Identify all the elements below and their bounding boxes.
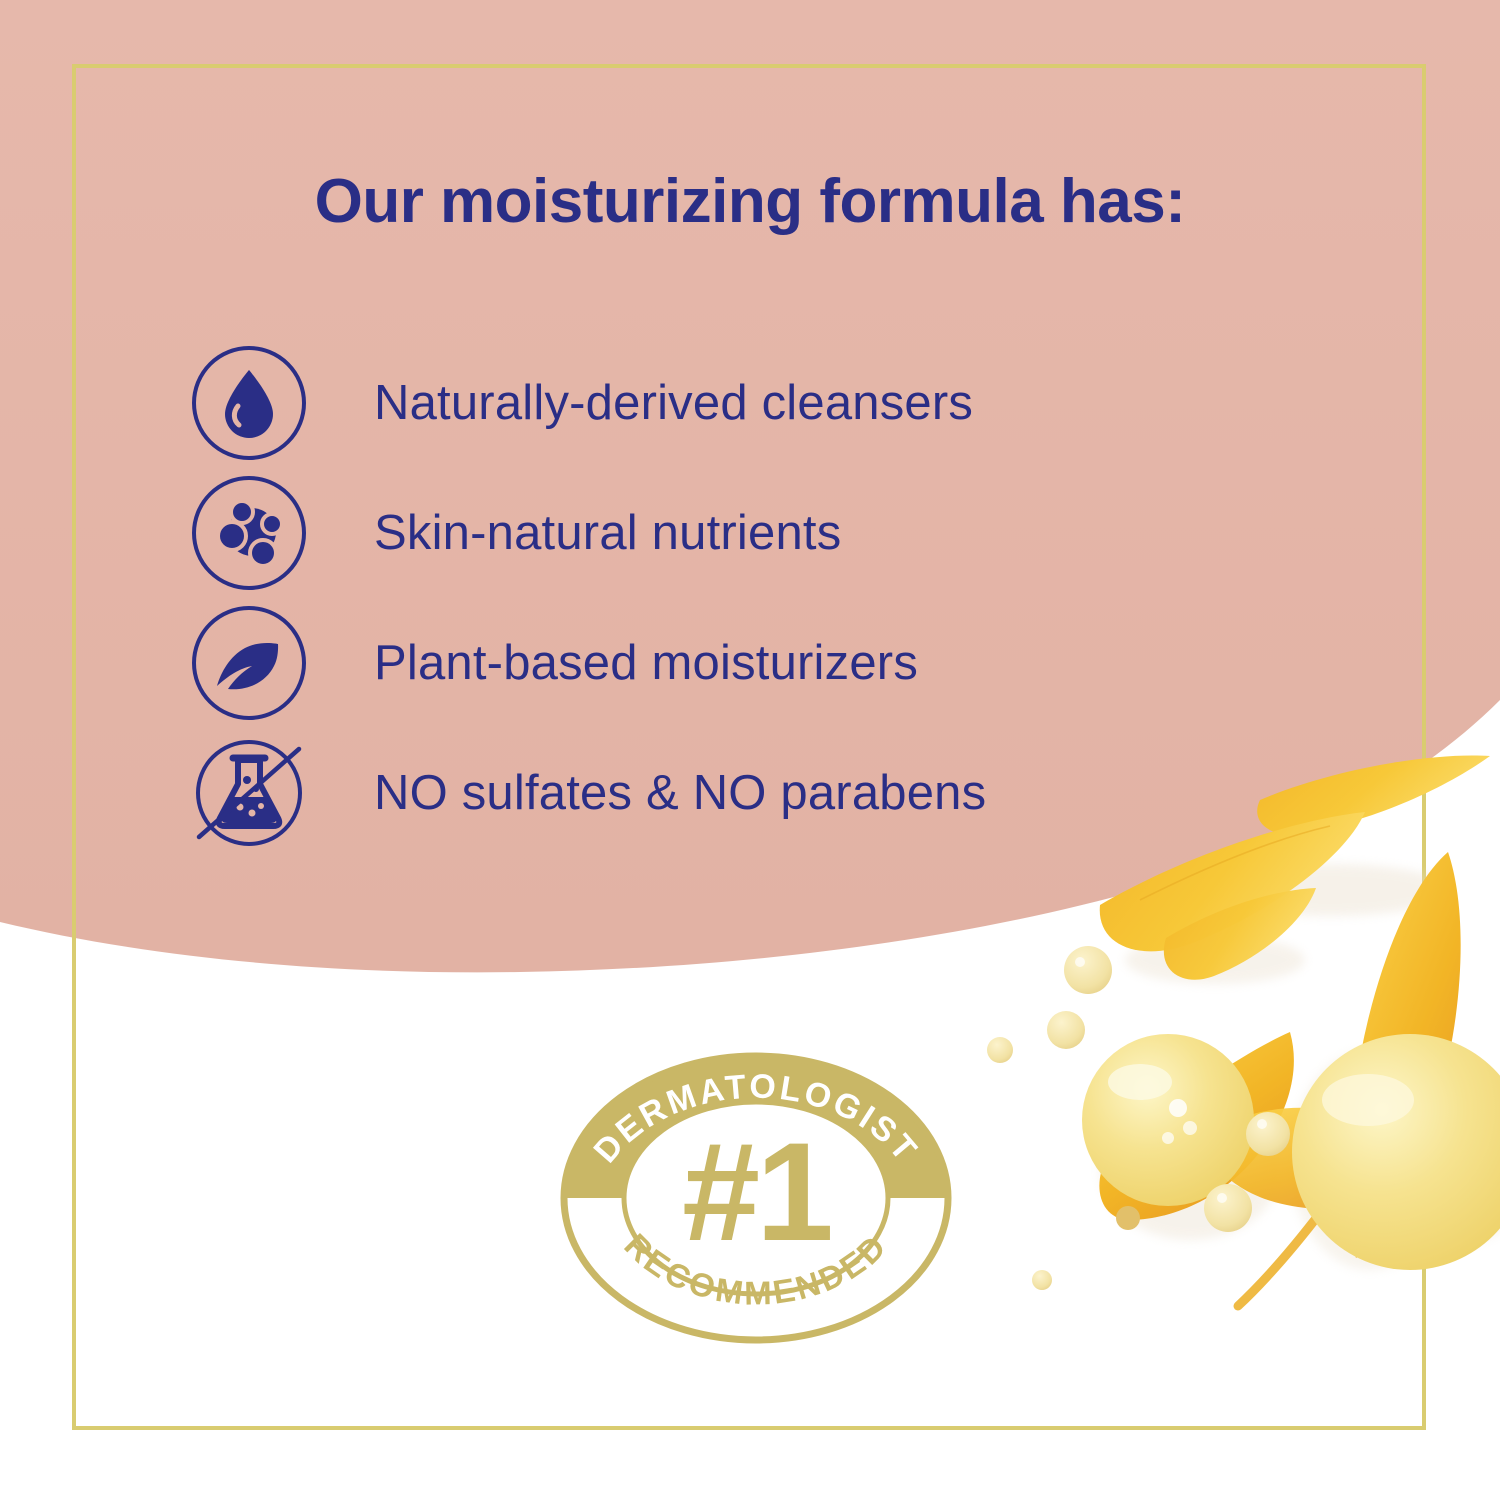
list-item-label: Skin-natural nutrients: [374, 505, 841, 561]
no-chemicals-flask-icon: [190, 734, 308, 852]
list-item-label: Plant-based moisturizers: [374, 635, 918, 691]
list-item-label: NO sulfates & NO parabens: [374, 765, 986, 821]
molecule-icon: [190, 474, 308, 592]
product-benefits-graphic: Our moisturizing formula has: Naturally-…: [0, 0, 1500, 1500]
water-drop-icon: [190, 344, 308, 462]
dermatologist-recommended-badge: DERMATOLOGIST RECOMMENDED #1: [556, 1050, 956, 1345]
list-item: NO sulfates & NO parabens: [190, 728, 1290, 858]
list-item: Plant-based moisturizers: [190, 598, 1290, 728]
badge-center-text: #1: [682, 1113, 830, 1270]
page-title: Our moisturizing formula has:: [0, 166, 1500, 237]
benefits-list: Naturally-derived cleansers Skin-natural…: [190, 338, 1290, 858]
leaf-icon: [190, 604, 308, 722]
list-item: Skin-natural nutrients: [190, 468, 1290, 598]
list-item-label: Naturally-derived cleansers: [374, 375, 973, 431]
list-item: Naturally-derived cleansers: [190, 338, 1290, 468]
